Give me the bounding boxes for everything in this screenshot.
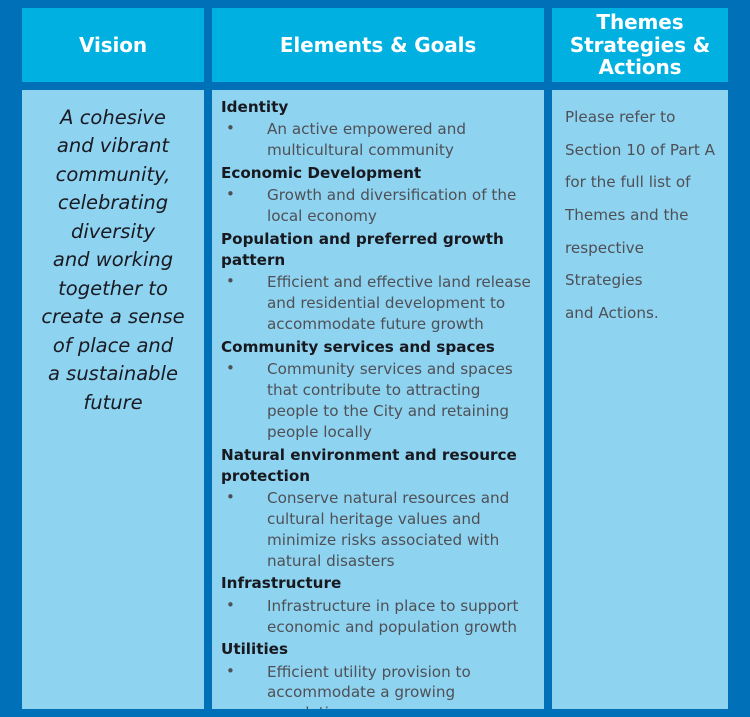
goal-item-text: Growth and diversification of the local … [267, 186, 516, 225]
table-header-row: Vision Elements & Goals Themes Strategie… [0, 8, 750, 82]
table-body-row: A cohesive and vibrant community, celebr… [0, 90, 750, 709]
element-group: Population and preferred growth pattern•… [221, 228, 536, 336]
goal-item: •Infrastructure in place to support econ… [221, 596, 536, 639]
goal-item: •Efficient and effective land release an… [221, 272, 536, 335]
goal-item-text: Conserve natural resources and cultural … [267, 489, 509, 569]
bullet-icon: • [226, 118, 235, 139]
bullet-icon: • [226, 271, 235, 292]
vision-statement: A cohesive and vibrant community, celebr… [22, 90, 204, 417]
column-header-vision: Vision [22, 8, 204, 82]
column-header-themes-strategies-actions: Themes Strategies & Actions [552, 8, 728, 82]
element-group: Natural environment and resource protect… [221, 444, 536, 573]
elements-and-goals-list: Identity•An active empowered and multicu… [212, 90, 544, 709]
element-group: Identity•An active empowered and multicu… [221, 96, 536, 162]
element-group-heading: Population and preferred growth pattern [221, 228, 536, 273]
strategy-table: Vision Elements & Goals Themes Strategie… [0, 0, 750, 717]
bullet-icon: • [226, 487, 235, 508]
goal-item-text: Infrastructure in place to support econo… [267, 597, 519, 636]
goal-item: •Conserve natural resources and cultural… [221, 488, 536, 572]
element-group-heading: Infrastructure [221, 572, 536, 595]
goal-item: •Community services and spaces that cont… [221, 359, 536, 443]
bullet-icon: • [226, 358, 235, 379]
element-group: Infrastructure•Infrastructure in place t… [221, 572, 536, 638]
goal-item-text: Efficient utility provision to accommoda… [267, 663, 471, 709]
bullet-icon: • [226, 661, 235, 682]
cell-themes-strategies-actions: Please refer to Section 10 of Part A for… [552, 90, 728, 709]
bullet-icon: • [226, 595, 235, 616]
bullet-icon: • [226, 184, 235, 205]
column-header-elements-and-goals: Elements & Goals [212, 8, 544, 82]
goal-item: •An active empowered and multicultural c… [221, 119, 536, 162]
element-group-heading: Natural environment and resource protect… [221, 444, 536, 489]
element-group-heading: Economic Development [221, 162, 536, 185]
column-header-elements-and-goals-label: Elements & Goals [276, 34, 480, 56]
column-header-themes-strategies-actions-label: Themes Strategies & Actions [566, 11, 714, 78]
goal-item-text: Efficient and effective land release and… [267, 273, 531, 333]
cell-elements-and-goals: Identity•An active empowered and multicu… [212, 90, 544, 709]
goal-item-text: An active empowered and multicultural co… [267, 120, 466, 159]
column-header-vision-label: Vision [75, 34, 151, 56]
themes-reference-note: Please refer to Section 10 of Part A for… [552, 90, 728, 330]
element-group: Utilities•Efficient utility provision to… [221, 638, 536, 709]
element-group-heading: Identity [221, 96, 536, 119]
goal-item-text: Community services and spaces that contr… [267, 360, 513, 440]
goal-item: •Growth and diversification of the local… [221, 185, 536, 228]
cell-vision: A cohesive and vibrant community, celebr… [22, 90, 204, 709]
element-group: Economic Development•Growth and diversif… [221, 162, 536, 228]
goal-item: •Efficient utility provision to accommod… [221, 662, 536, 709]
element-group-heading: Community services and spaces [221, 336, 536, 359]
element-group-heading: Utilities [221, 638, 536, 661]
element-group: Community services and spaces•Community … [221, 336, 536, 444]
